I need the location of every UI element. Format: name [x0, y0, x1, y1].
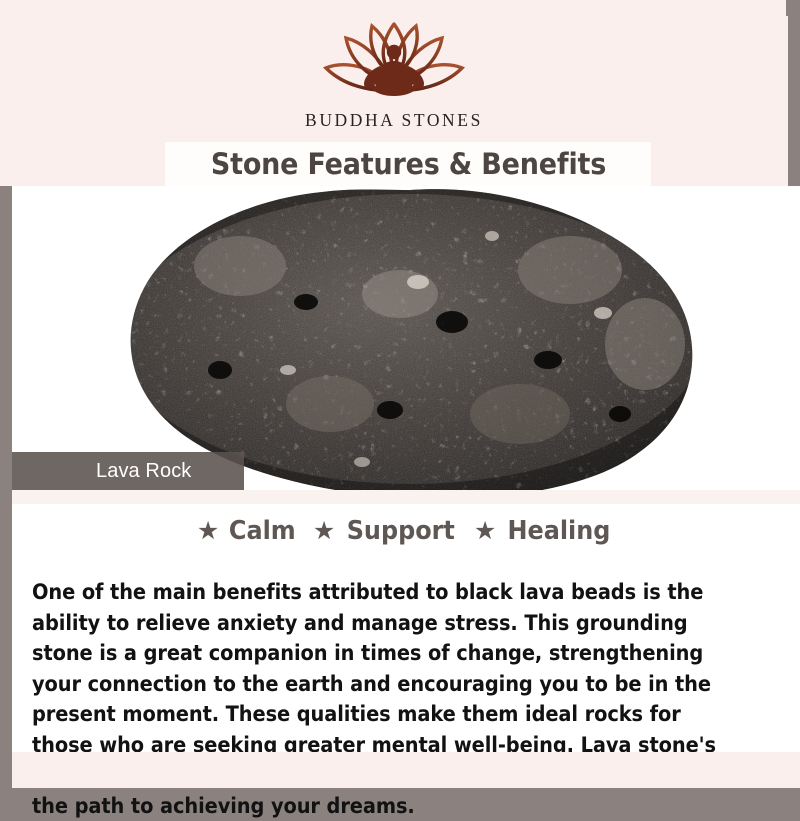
corner-notch-right: [786, 0, 800, 16]
stone-photo: [12, 186, 800, 490]
photo-divider: [12, 490, 800, 504]
star-icon: ★: [313, 519, 335, 544]
keyword-label: Healing: [508, 516, 611, 546]
keyword-item-support: ★ Support: [313, 516, 460, 546]
brand-name: BUDDHA STONES: [0, 110, 788, 131]
keyword-label: Calm: [229, 516, 296, 546]
keyword-item-calm: ★ Calm: [197, 516, 299, 546]
star-icon: ★: [197, 519, 219, 544]
lava-rock-image: [100, 186, 720, 490]
star-icon: ★: [474, 519, 496, 544]
keyword-item-healing: ★ Healing: [474, 516, 615, 546]
footer-strip: [12, 752, 800, 788]
keyword-row: ★ Calm ★ Support ★ Healing: [12, 516, 800, 546]
stone-caption: Lava Rock: [96, 460, 191, 483]
lotus-meditation-icon: [310, 16, 478, 108]
title-banner: Stone Features & Benefits: [165, 142, 651, 186]
logo-block: BUDDHA STONES: [0, 16, 788, 131]
stone-caption-banner: Lava Rock: [12, 452, 244, 490]
page-title: Stone Features & Benefits: [210, 147, 605, 181]
keyword-label: Support: [347, 516, 455, 546]
poster-root: BUDDHA STONES Stone Features & Benefits: [0, 0, 800, 800]
